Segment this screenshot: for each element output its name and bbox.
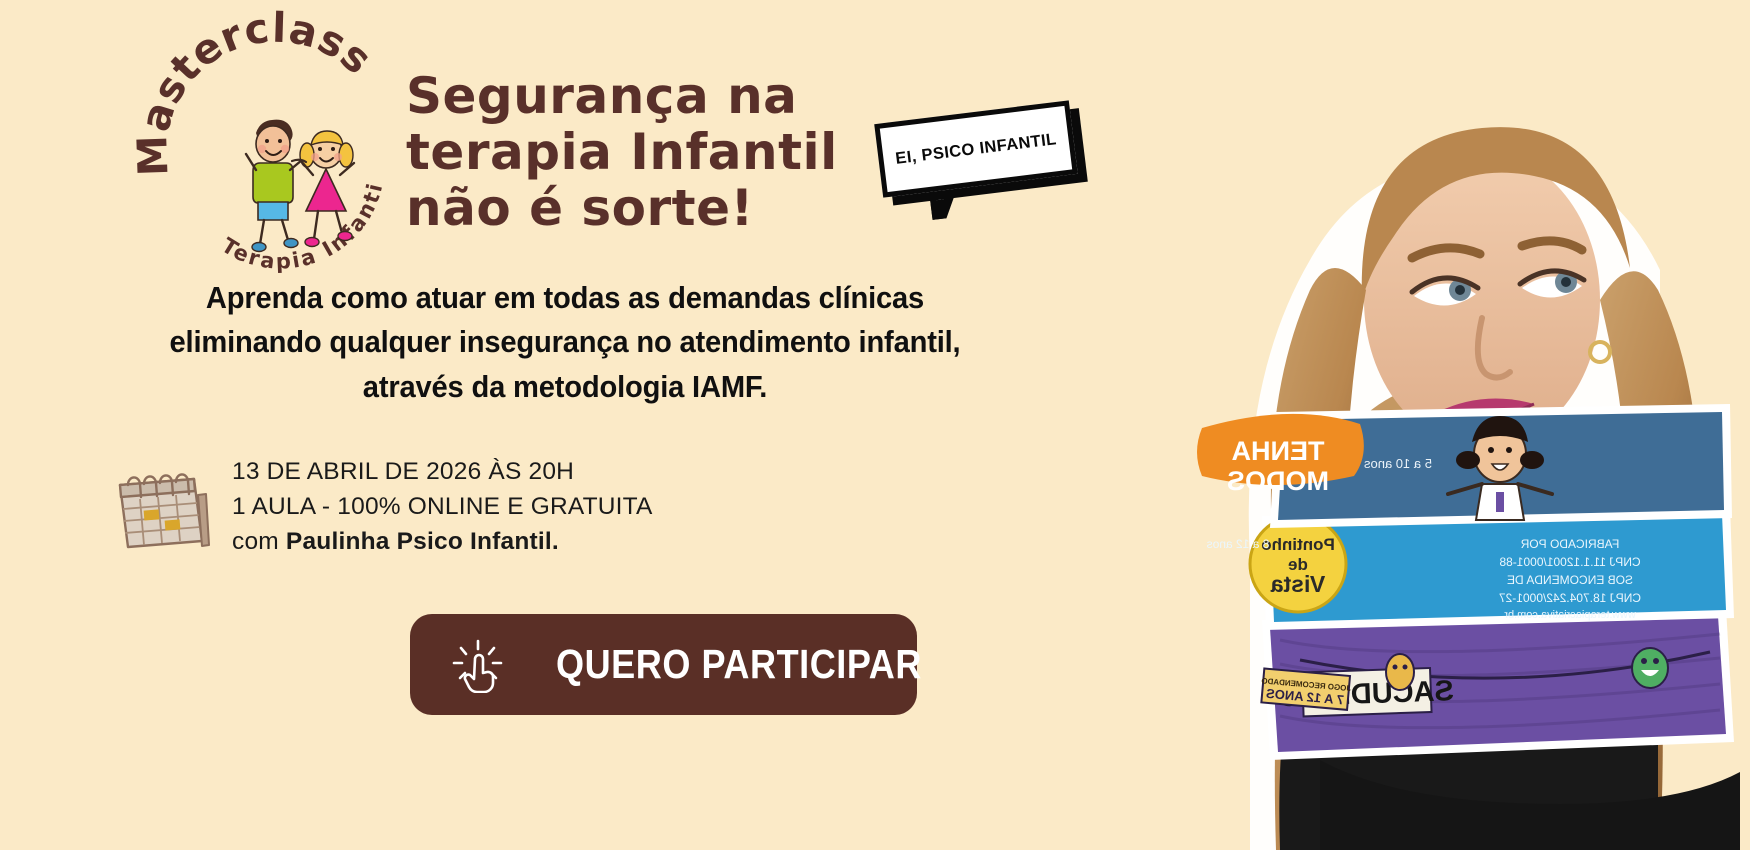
event-host-line: com Paulinha Psico Infantil. (232, 525, 653, 560)
box-tenha-modos: TENHA MODOS 5 a 10 anos (1197, 404, 1732, 528)
svg-text:de: de (1288, 555, 1308, 574)
box-pontinho-de-vista: FABRICADO POR CNPJ 11.1.12001/0001-88 SO… (1207, 506, 1734, 630)
event-format-line: 1 AULA - 100% ONLINE E GRATUITA (232, 490, 653, 525)
svg-text:Vista: Vista (1271, 571, 1326, 597)
click-hand-icon (452, 637, 504, 693)
cta-label: QUERO PARTICIPAR (556, 641, 922, 688)
speech-bubble-body: EI, PSICO INFANTIL (874, 100, 1078, 197)
svg-text:7 A 12 ANOS: 7 A 12 ANOS (1265, 686, 1344, 708)
masterclass-logo: Masterclass Terapia Infantil (168, 45, 398, 265)
event-host-name: Paulinha Psico Infantil. (286, 528, 559, 555)
svg-text:5 a 10 anos: 5 a 10 anos (1364, 456, 1432, 471)
presenter-photo: SACUDIDOS JOGO RECOMENDADO 7 A 12 ANOS (1130, 0, 1750, 850)
svg-text:MODOS: MODOS (1227, 466, 1329, 496)
event-detail-lines: 13 DE ABRIL DE 2026 ÀS 20H 1 AULA - 100%… (232, 455, 653, 559)
svg-text:CNPJ 18.704.242/0001-27: CNPJ 18.704.242/0001-27 (1499, 591, 1641, 605)
headline: Segurança na terapia Infantil não é sort… (406, 68, 876, 236)
boy-figure (246, 120, 302, 252)
svg-text:www.terapiacriativa.com.br: www.terapiacriativa.com.br (1504, 609, 1637, 621)
svg-text:8 a 12 anos: 8 a 12 anos (1207, 537, 1270, 551)
event-date-line: 13 DE ABRIL DE 2026 ÀS 20H (232, 455, 653, 490)
speech-bubble-text: EI, PSICO INFANTIL (880, 106, 1072, 192)
svg-text:SACUDIDOS: SACUDIDOS (1279, 675, 1454, 713)
svg-text:FABRICADO POR: FABRICADO POR (1520, 537, 1619, 551)
svg-text:Pontinho: Pontinho (1261, 535, 1335, 554)
promo-banner: Masterclass Terapia Infantil (0, 0, 1750, 850)
speech-bubble: EI, PSICO INFANTIL (878, 112, 1093, 257)
calendar-icon (110, 461, 210, 553)
svg-text:SOB ENCOMENDA DE: SOB ENCOMENDA DE (1507, 573, 1633, 587)
event-details: 13 DE ABRIL DE 2026 ÀS 20H 1 AULA - 100%… (110, 455, 653, 559)
event-host-prefix: com (232, 528, 286, 555)
svg-text:TENHA: TENHA (1232, 436, 1325, 466)
svg-text:CNPJ 11.1.12001/0001-88: CNPJ 11.1.12001/0001-88 (1499, 555, 1641, 569)
subheadline: Aprenda como atuar em todas as demandas … (90, 276, 1039, 409)
svg-text:JOGO RECOMENDADO: JOGO RECOMENDADO (1261, 676, 1351, 693)
box-sacudidos: SACUDIDOS JOGO RECOMENDADO 7 A 12 ANOS (1259, 608, 1734, 760)
quero-participar-button[interactable]: QUERO PARTICIPAR (410, 614, 917, 715)
